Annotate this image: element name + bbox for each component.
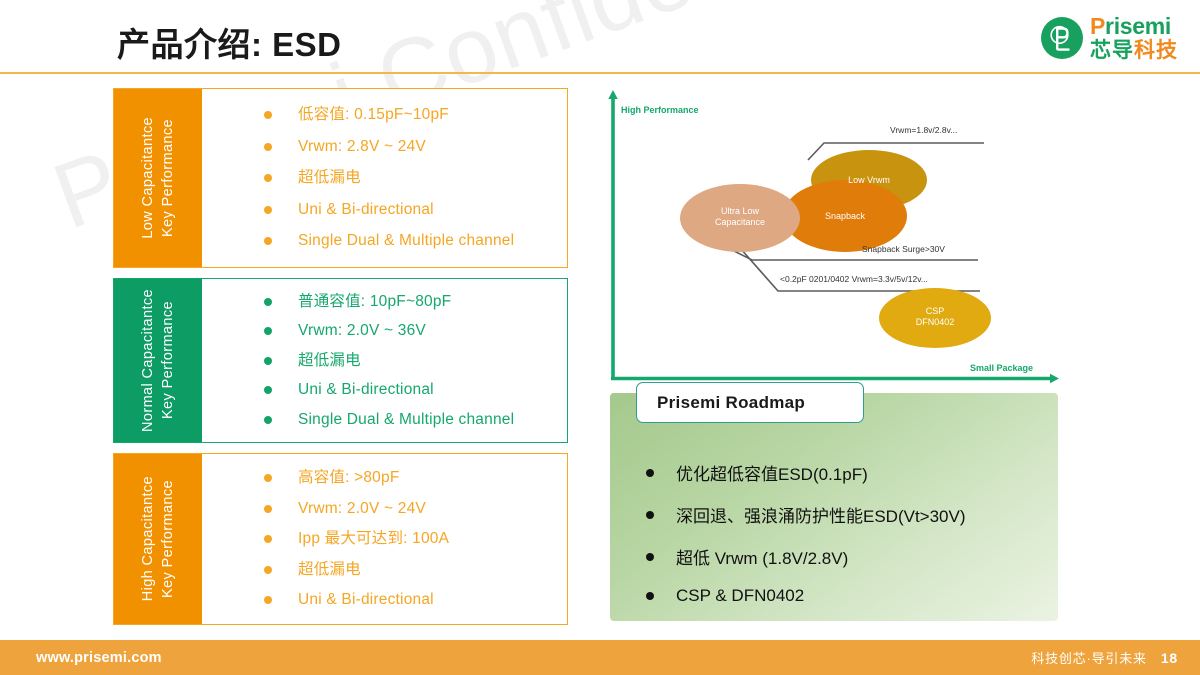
bullet-dot-icon (264, 474, 272, 482)
card-label-main: Low Capacitantce (140, 117, 156, 239)
axis-y-label: High Performance (621, 105, 699, 115)
roadmap-title: Prisemi Roadmap (636, 382, 864, 423)
card-body: 高容值: >80pF Vrwm: 2.0V ~ 24V Ipp 最大可达到: 1… (202, 454, 567, 624)
bullet-dot-icon (646, 511, 654, 519)
slide: Prisemi Confidential Document 产品介绍: ESD … (0, 0, 1200, 675)
bullet-text: Vrwm: 2.0V ~ 24V (298, 501, 426, 517)
bullet-dot-icon (646, 553, 654, 561)
page-number: 18 (1161, 650, 1178, 666)
roadmap-list: 优化超低容值ESD(0.1pF) 深回退、强浪涌防护性能ESD(Vt>30V) … (646, 460, 1048, 623)
prisemi-logo: Prisemi 芯导科技 (1040, 15, 1178, 61)
bullet-text: 高容值: >80pF (298, 470, 400, 486)
bullet-text: 超低漏电 (298, 353, 361, 369)
bullet-dot-icon (264, 111, 272, 119)
axis-y-icon (608, 90, 617, 380)
callout-low-vrwm: Vrwm=1.8v/2.8v... (890, 125, 957, 135)
bullet-text: 普通容值: 10pF~80pF (298, 294, 451, 310)
slide-footer: www.prisemi.com 科技创芯·导引未来 18 (0, 640, 1200, 675)
bullet-text: Uni & Bi-directional (298, 382, 434, 398)
footer-website[interactable]: www.prisemi.com (36, 640, 162, 675)
card-label-main: Normal Capacitantce (140, 289, 156, 432)
logo-cn: 芯导科技 (1090, 40, 1178, 61)
roadmap-panel: Prisemi Roadmap 优化超低容值ESD(0.1pF) 深回退、强浪涌… (610, 393, 1058, 621)
bubble-csp-dfn0402 (879, 288, 991, 348)
list-item: CSP & DFN0402 (646, 586, 1048, 606)
bullet-dot-icon (264, 357, 272, 365)
bullet-dot-icon (264, 386, 272, 394)
card-label-block: Low Capacitantce Key Performance (114, 89, 202, 267)
card-body: 低容值: 0.15pF~10pF Vrwm: 2.8V ~ 24V 超低漏电 U… (202, 89, 567, 267)
bullet-text: Ipp 最大可达到: 100A (298, 531, 449, 547)
bullet-dot-icon (646, 469, 654, 477)
bullet-dot-icon (264, 416, 272, 424)
roadmap-item-text: 超低 Vrwm (1.8V/2.8V) (676, 544, 848, 569)
list-item: Uni & Bi-directional (264, 382, 567, 398)
diagram-canvas (600, 88, 1070, 388)
card-label-block: Normal Capacitantce Key Performance (114, 279, 202, 442)
callout-snapback: Snapback Surge>30V (862, 244, 945, 254)
card-label-sub: Key Performance (160, 301, 176, 419)
header-divider (0, 72, 1200, 74)
list-item: Uni & Bi-directional (264, 592, 567, 608)
bullet-dot-icon (264, 566, 272, 574)
list-item: 普通容值: 10pF~80pF (264, 294, 567, 310)
bullet-text: 超低漏电 (298, 170, 361, 186)
footer-right: 科技创芯·导引未来 18 (1031, 640, 1178, 675)
prisemi-p-mark-icon (1040, 16, 1084, 60)
bullet-dot-icon (264, 174, 272, 182)
callout-ultra-low-cap: <0.2pF 0201/0402 Vrwm=3.3v/5v/12v... (780, 274, 928, 284)
slide-header: 产品介绍: ESD Prisemi 芯导科技 (0, 0, 1200, 73)
list-item: 超低漏电 (264, 353, 567, 369)
bullet-text: Uni & Bi-directional (298, 592, 434, 608)
bullet-text: Single Dual & Multiple channel (298, 412, 514, 428)
bubble-ultra-low-capacitance (680, 184, 800, 252)
list-item: 超低 Vrwm (1.8V/2.8V) (646, 544, 1048, 569)
bullet-text: Uni & Bi-directional (298, 202, 434, 218)
card-label-sub: Key Performance (160, 119, 176, 237)
roadmap-item-text: 深回退、强浪涌防护性能ESD(Vt>30V) (676, 502, 966, 527)
bullet-dot-icon (264, 206, 272, 214)
list-item: 优化超低容值ESD(0.1pF) (646, 460, 1048, 485)
bullet-dot-icon (264, 237, 272, 245)
roadmap-item-text: 优化超低容值ESD(0.1pF) (676, 460, 868, 485)
list-item: 深回退、强浪涌防护性能ESD(Vt>30V) (646, 502, 1048, 527)
bullet-text: 低容值: 0.15pF~10pF (298, 107, 449, 123)
list-item: Vrwm: 2.0V ~ 36V (264, 323, 567, 339)
card-label-sub: Key Performance (160, 480, 176, 598)
bubble-snapback (783, 180, 907, 252)
bullet-dot-icon (264, 327, 272, 335)
bullet-text: Vrwm: 2.8V ~ 24V (298, 139, 426, 155)
roadmap-item-text: CSP & DFN0402 (676, 586, 804, 606)
footer-slogan: 科技创芯·导引未来 (1031, 648, 1147, 667)
list-item: Single Dual & Multiple channel (264, 233, 567, 249)
list-item: 超低漏电 (264, 170, 567, 186)
bullet-dot-icon (264, 298, 272, 306)
bullet-text: 超低漏电 (298, 562, 361, 578)
card-normal-capacitance: Normal Capacitantce Key Performance 普通容值… (113, 278, 568, 443)
list-item: Uni & Bi-directional (264, 202, 567, 218)
list-item: Single Dual & Multiple channel (264, 412, 567, 428)
axis-x-label: Small Package (970, 363, 1033, 373)
bullet-dot-icon (264, 505, 272, 513)
list-item: 低容值: 0.15pF~10pF (264, 107, 567, 123)
card-label-main: High Capacitantce (140, 476, 156, 601)
logo-wordmark: Prisemi 芯导科技 (1090, 15, 1178, 61)
bullet-dot-icon (646, 592, 654, 600)
logo-en: Prisemi (1090, 15, 1178, 38)
card-body: 普通容值: 10pF~80pF Vrwm: 2.0V ~ 36V 超低漏电 Un… (202, 279, 567, 442)
list-item: Vrwm: 2.0V ~ 24V (264, 501, 567, 517)
bullet-dot-icon (264, 596, 272, 604)
positioning-diagram: High Performance Small Package Low Vrwm … (600, 88, 1070, 388)
list-item: Ipp 最大可达到: 100A (264, 531, 567, 547)
card-low-capacitance: Low Capacitantce Key Performance 低容值: 0.… (113, 88, 568, 268)
bullet-dot-icon (264, 143, 272, 151)
list-item: Vrwm: 2.8V ~ 24V (264, 139, 567, 155)
bullet-text: Single Dual & Multiple channel (298, 233, 514, 249)
card-label-block: High Capacitantce Key Performance (114, 454, 202, 624)
card-high-capacitance: High Capacitantce Key Performance 高容值: >… (113, 453, 568, 625)
bullet-text: Vrwm: 2.0V ~ 36V (298, 323, 426, 339)
bullet-dot-icon (264, 535, 272, 543)
list-item: 超低漏电 (264, 562, 567, 578)
list-item: 高容值: >80pF (264, 470, 567, 486)
page-title: 产品介绍: ESD (117, 18, 342, 66)
